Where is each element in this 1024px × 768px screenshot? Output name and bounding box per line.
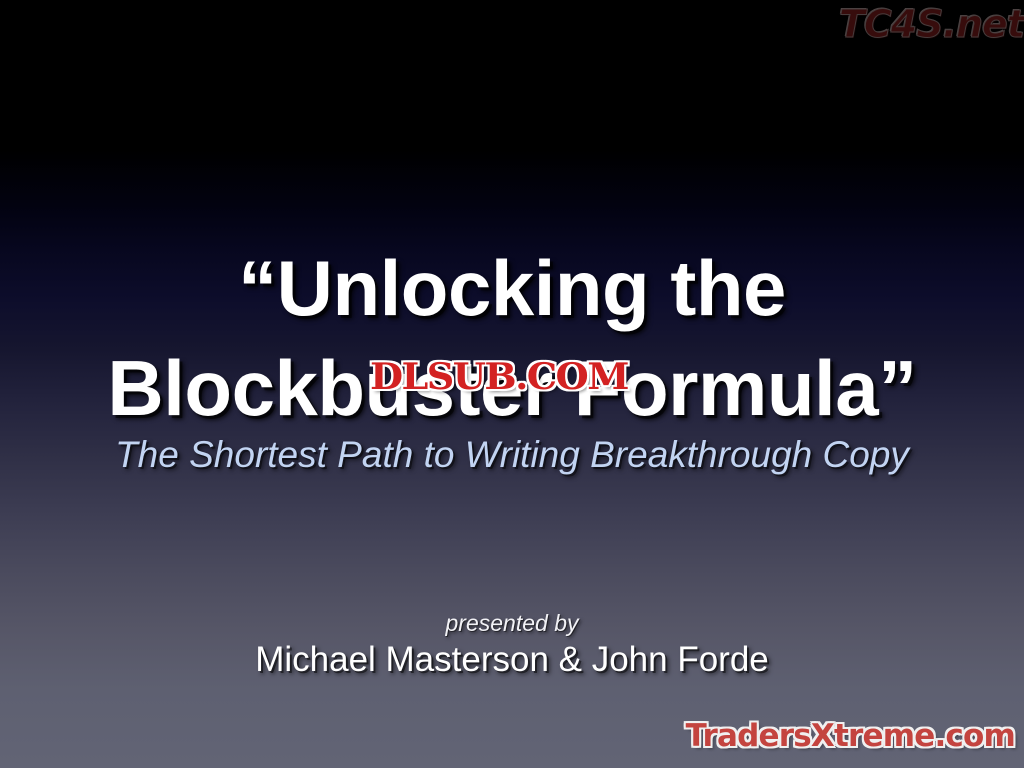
title-line-1: “Unlocking the — [0, 238, 1024, 338]
presentation-slide: “Unlocking the Blockbuster Formula” The … — [0, 0, 1024, 768]
watermark-dlsub: DLSUB.COM — [370, 356, 628, 398]
slide-subtitle: The Shortest Path to Writing Breakthroug… — [0, 432, 1024, 478]
slide-title: “Unlocking the Blockbuster Formula” — [0, 238, 1024, 438]
presenter-block: presented by Michael Masterson & John Fo… — [0, 608, 1024, 682]
watermark-tc4s: TC4S.net — [839, 2, 1024, 46]
presenter-names: Michael Masterson & John Forde — [0, 638, 1024, 682]
presented-by-label: presented by — [0, 608, 1024, 638]
watermark-tradersxtreme: TradersXtreme.com — [686, 718, 1015, 754]
